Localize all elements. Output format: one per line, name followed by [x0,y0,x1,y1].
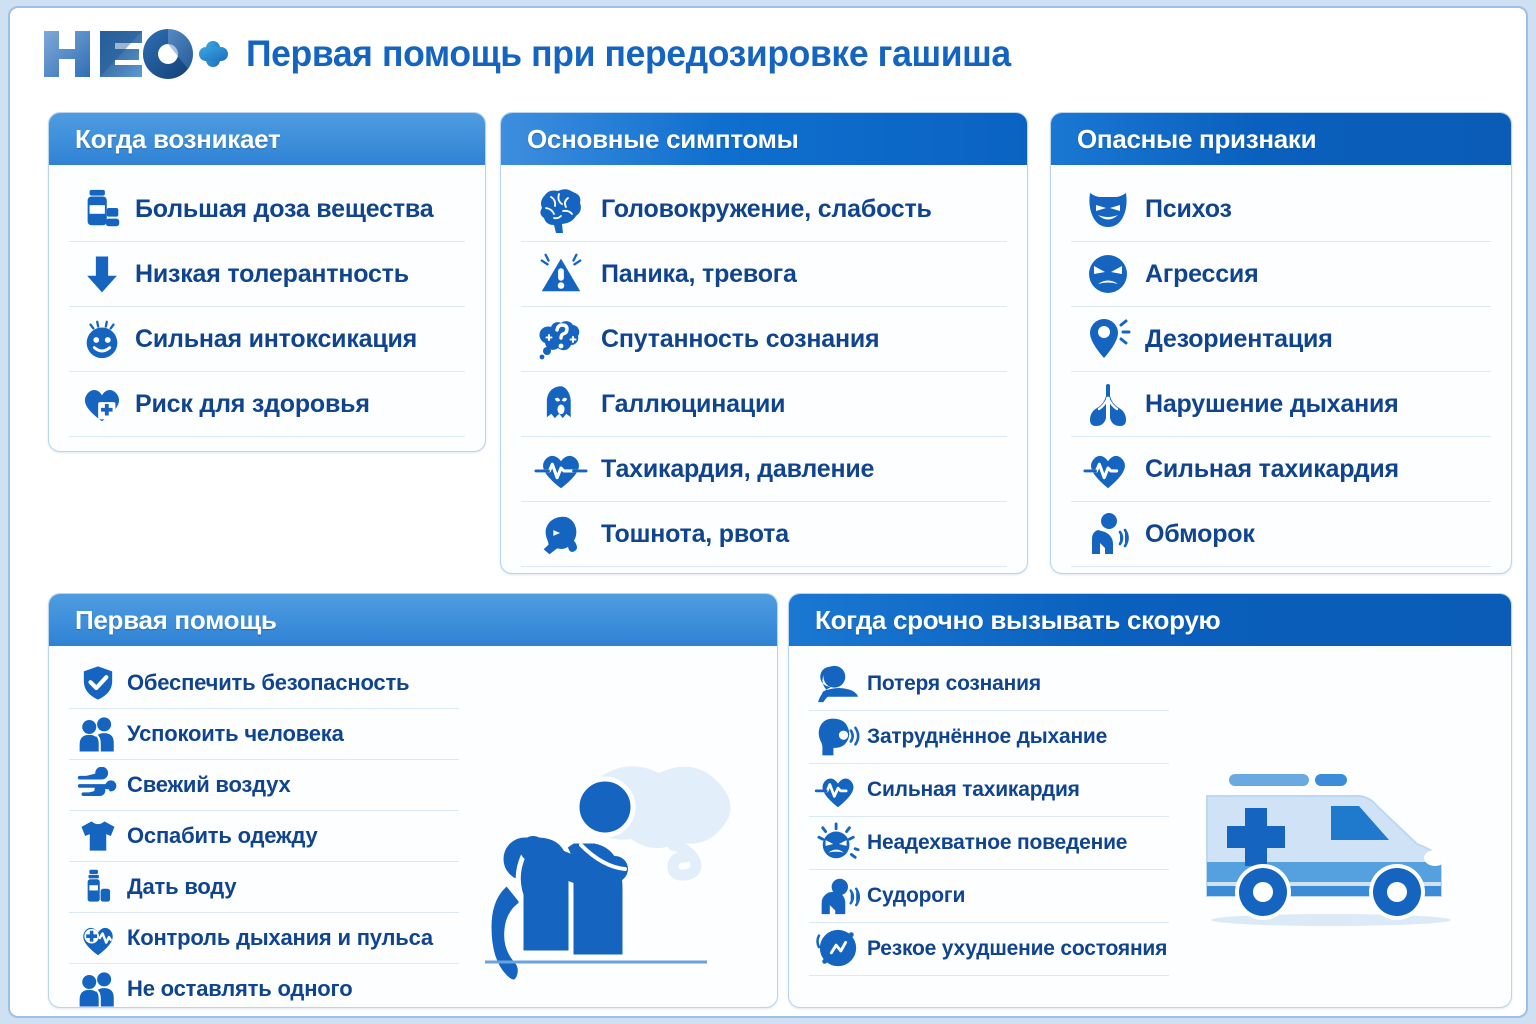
pill-bottle-icon [69,181,135,237]
panel-main-symptoms-title: Основные симптомы [501,113,1027,165]
list-item-label: Большая доза вещества [135,195,433,224]
list-item[interactable]: Резкое ухудшение состояния [809,923,1169,976]
list-item-label: Нарушение дыхания [1145,390,1399,419]
convulsing-person-icon [809,872,867,920]
list-item-label: Паника, тревога [601,260,797,289]
list-item-label: Сильная тахикардия [867,778,1080,802]
list-item-label: Спутанность сознания [601,325,879,354]
list-item-label: Судороги [867,884,965,908]
list-item-label: Сильная тахикардия [1145,455,1399,484]
poster-header: Первая помощь при передозировке гашиша [10,8,1528,100]
list-item[interactable]: Дать воду [69,862,459,913]
list-item[interactable]: Низкая толерантность [69,242,465,307]
heart-pulse-icon [521,440,601,498]
list-item-label: Галлюцинации [601,390,785,419]
list-item-label: Не оставлять одного [127,976,352,1002]
list-item[interactable]: Оспабить одежду [69,811,459,862]
list-item[interactable]: Сильная тахикардия [1071,437,1491,502]
list-item[interactable]: Агрессия [1071,242,1491,307]
panel-when-occurs: Когда возникает Большая доза вещества [48,112,486,452]
vomiting-person-icon [521,505,601,563]
list-item-label: Дезориентация [1145,325,1333,354]
dizzy-face-icon [69,311,135,367]
breathing-head-icon [809,713,867,761]
panel-call-ambulance: Когда срочно вызывать скорую Потеря созн… [788,593,1512,1008]
page-title: Первая помощь при передозировке гашиша [246,33,1011,75]
warning-triangle-icon [521,245,601,303]
list-item[interactable]: Нарушение дыхания [1071,372,1491,437]
heart-pulse-icon [1071,440,1145,498]
list-item[interactable]: Судороги [809,870,1169,923]
list-item[interactable]: Обеспечить безопасность [69,658,459,709]
two-people-icon [69,966,127,1008]
list-item[interactable]: Неадехватное поведение [809,817,1169,870]
list-item-label: Риск для здоровья [135,390,370,419]
panel-main-symptoms: Основные симптомы Головокружение, слабос… [500,112,1028,574]
list-item-label: Тошнота, рвота [601,520,789,549]
list-item[interactable]: Сильная тахикардия [809,764,1169,817]
first-aid-list: Обеспечить безопасность Успокоить челове… [49,646,479,1008]
list-item-label: Обеспечить безопасность [127,670,409,696]
location-pin-icon [1071,310,1145,368]
angry-face-icon [1071,245,1145,303]
two-people-supporting-illustration [477,749,767,999]
brain-icon [521,180,601,238]
symptoms-list: Головокружение, слабость Паника, тревога [501,165,1027,574]
water-bottle-icon [69,864,127,910]
list-item[interactable]: Не оставлять одного [69,964,459,1008]
down-arrow-icon [69,246,135,302]
list-item[interactable]: Паника, тревога [521,242,1007,307]
list-item-label: Обморок [1145,520,1255,549]
list-item[interactable]: Свежий воздух [69,760,459,811]
danger-signs-list: Психоз Агрессия [1051,165,1511,574]
fainting-person-icon [1071,505,1145,563]
list-item-label: Оспабить одежду [127,823,318,849]
list-item[interactable]: Психоз [1071,177,1491,242]
list-item-label: Дать воду [127,874,236,900]
wind-icon [69,762,127,808]
list-item-label: Неадехватное поведение [867,831,1127,855]
list-item[interactable]: Галлюцинации [521,372,1007,437]
deterioration-icon [809,925,867,973]
ambulance-illustration [1181,758,1481,933]
ghost-icon [521,375,601,433]
unconscious-person-icon [809,660,867,708]
list-item-label: Контроль дыхания и пульса [127,925,433,951]
list-item-label: Потеря сознания [867,672,1041,696]
infographic-poster: Первая помощь при передозировке гашиша К… [8,6,1528,1018]
list-item-label: Тахикардия, давление [601,455,874,484]
list-item[interactable]: Тошнота, рвота [521,502,1007,567]
list-item-label: Головокружение, слабость [601,195,932,224]
lungs-icon [1071,375,1145,433]
shield-check-icon [69,660,127,706]
list-item-label: Свежий воздух [127,772,291,798]
panel-when-occurs-title: Когда возникает [49,113,485,165]
thought-question-icon [521,310,601,368]
list-item-label: Агрессия [1145,260,1258,289]
list-item-label: Психоз [1145,195,1232,224]
panel-call-ambulance-title: Когда срочно вызывать скорую [789,594,1511,646]
heart-cross-icon [69,376,135,432]
list-item[interactable]: Потеря сознания [809,658,1169,711]
list-item[interactable]: Дезориентация [1071,307,1491,372]
list-item[interactable]: Спутанность сознания [521,307,1007,372]
panel-danger-signs-title: Опасные признаки [1051,113,1511,165]
list-item-label: Сильная интоксикация [135,325,417,354]
list-item-label: Резкое ухудшение состояния [867,937,1167,961]
list-item[interactable]: Большая доза вещества [69,177,465,242]
list-item[interactable]: Затруднённое дыхание [809,711,1169,764]
two-people-icon [69,711,127,757]
heart-cross-pulse-icon [69,915,127,961]
panel-first-aid-title: Первая помощь [49,594,777,646]
list-item[interactable]: Контроль дыхания и пульса [69,913,459,964]
tshirt-icon [69,813,127,859]
heart-pulse-icon [809,766,867,814]
list-item[interactable]: Головокружение, слабость [521,177,1007,242]
evil-mask-icon [1071,180,1145,238]
list-item[interactable]: Успокоить человека [69,709,459,760]
agitated-face-icon [809,819,867,867]
list-item[interactable]: Риск для здоровья [69,372,465,437]
when-occurs-list: Большая доза вещества Низкая толерантнос… [49,165,485,449]
list-item[interactable]: Сильная интоксикация [69,307,465,372]
panel-danger-signs: Опасные признаки Психоз [1050,112,1512,574]
list-item[interactable]: Тахикардия, давление [521,437,1007,502]
panel-first-aid: Первая помощь Обеспечить безопасность [48,593,778,1008]
emergency-list: Потеря сознания Затруднённое дыхание [789,646,1189,988]
list-item[interactable]: Обморок [1071,502,1491,567]
list-item-label: Затруднённое дыхание [867,725,1107,749]
list-item-label: Успокоить человека [127,721,344,747]
neo-plus-logo [40,25,230,83]
list-item-label: Низкая толерантность [135,260,409,289]
